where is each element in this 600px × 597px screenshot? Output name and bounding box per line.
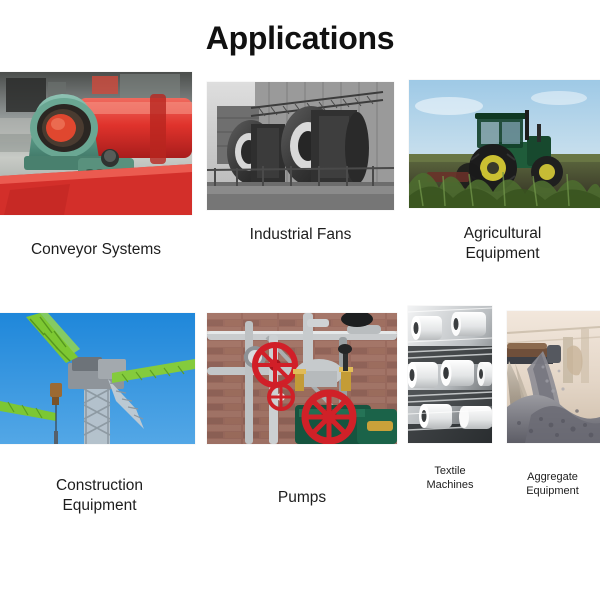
slide-canvas: Applications [0,0,600,597]
pumps-image [207,313,397,444]
caption-line: Aggregate [505,470,600,484]
caption-line: Equipment [405,244,600,264]
caption-line: Construction [0,476,199,496]
caption-line: Equipment [505,484,600,498]
construction-equipment-caption: Construction Equipment [0,476,199,516]
industrial-fans-image [207,82,394,210]
pumps-caption: Pumps [202,488,402,508]
caption-line: Equipment [0,496,199,516]
agricultural-equipment-image [409,80,600,208]
aggregate-equipment-image [507,311,600,443]
conveyor-systems-caption: Conveyor Systems [0,240,192,260]
textile-machines-image [408,306,492,443]
conveyor-systems-image: 2220 [0,72,192,215]
industrial-fans-caption: Industrial Fans [202,225,399,245]
caption-line: Agricultural [405,224,600,244]
caption-line: Machines [405,478,495,492]
page-title: Applications [0,20,600,57]
construction-equipment-image [0,313,195,444]
aggregate-equipment-caption: Aggregate Equipment [505,470,600,498]
caption-line: Textile [405,464,495,478]
agricultural-equipment-caption: Agricultural Equipment [405,224,600,264]
textile-machines-caption: Textile Machines [405,464,495,492]
